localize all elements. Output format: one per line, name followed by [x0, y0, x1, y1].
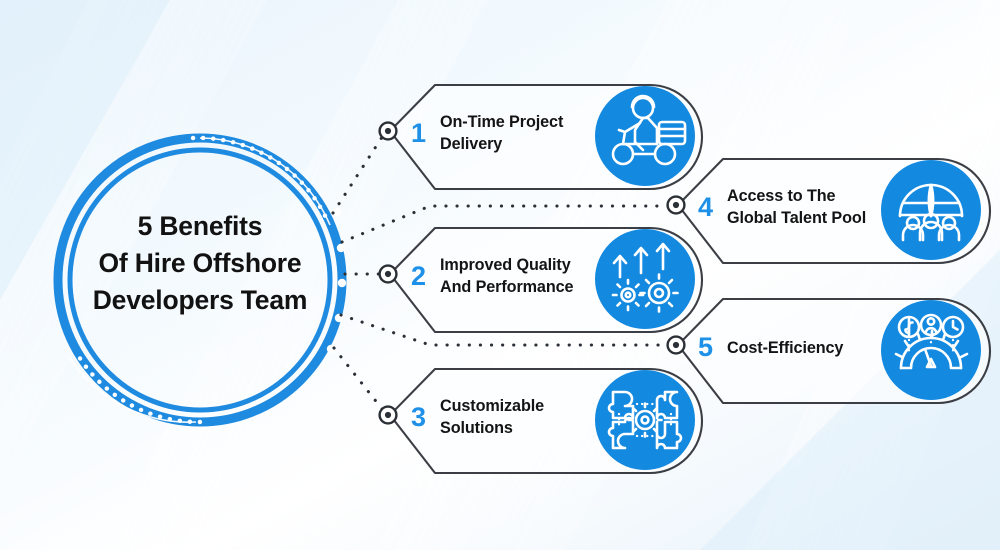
connector-node-1 [380, 123, 397, 140]
benefit-card-1[interactable] [380, 85, 702, 189]
infographic-canvas: .dotline{stroke:#2b2f36;stroke-width:3.1… [0, 0, 1000, 550]
connector-node-5 [668, 337, 685, 354]
benefit-card-2[interactable] [380, 228, 702, 332]
connector-node-2 [380, 266, 397, 283]
center-ring [58, 138, 346, 422]
benefit-card-4[interactable] [668, 159, 990, 263]
connector-node-3 [380, 407, 397, 424]
diagram-vectors: .dotline{stroke:#2b2f36;stroke-width:3.1… [0, 0, 1000, 550]
benefit-card-3[interactable] [380, 369, 702, 473]
puzzle-gear-icon [595, 370, 695, 470]
connector-node-4 [668, 197, 685, 214]
growth-arrows-gears-icon [595, 229, 695, 329]
benefit-card-5[interactable] [668, 299, 990, 403]
